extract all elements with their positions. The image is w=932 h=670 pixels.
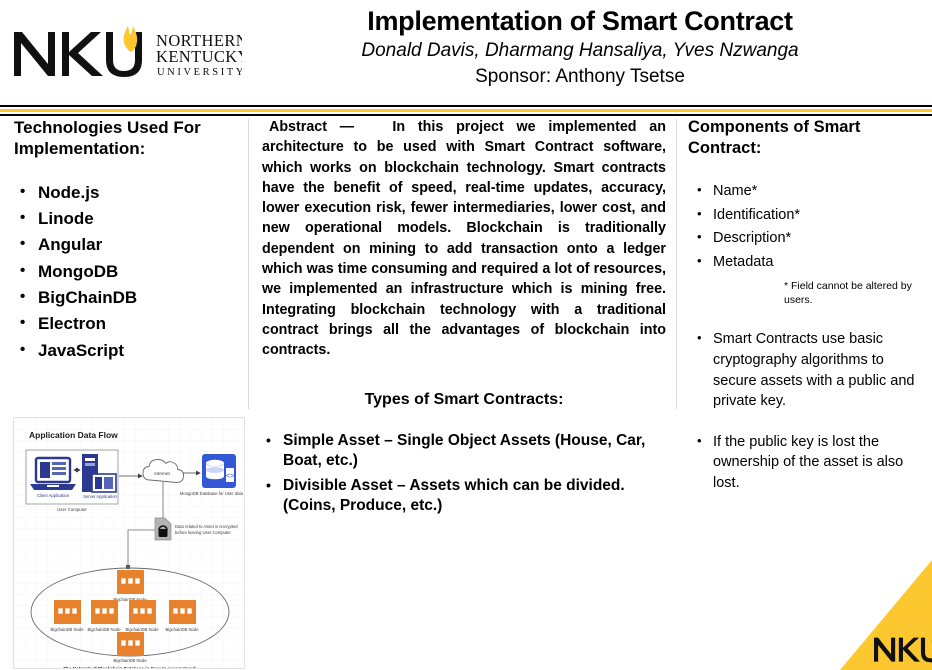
list-item: MongoDB [14,259,246,285]
nku-logo-svg: NORTHERN KENTUCKY UNIVERSITY [10,22,242,84]
bigchaindb-node [91,600,118,624]
abstract-label: Abstract — [262,119,354,135]
title-block: Implementation of Smart Contract Donald … [250,6,910,89]
list-item: If the public key is lost the ownership … [688,432,918,494]
label-node: BigchainDB Node [50,627,84,632]
svg-text:<>: <> [226,473,234,480]
list-item: Simple Asset – Single Object Assets (Hou… [262,431,666,472]
logo-line-university: UNIVERSITY [157,67,242,78]
network-caption: The Network of Blockchain Database in Pe… [63,666,197,669]
lock-icon [155,518,171,540]
label-node: BigchainDB Node [113,658,147,663]
poster-body: Technologies Used For Implementation: No… [0,117,932,670]
label-lock-note-2: before leaving User Computer [175,530,231,535]
list-item: Smart Contracts use basic cryptography a… [688,329,918,411]
bigchaindb-node [129,600,156,624]
diagram-title: Application Data Flow [29,430,118,440]
corner-logo-svg: ™ [820,560,932,670]
mongodb-icon: <> [202,454,236,488]
list-item: Electron [14,311,246,337]
types-list: Simple Asset – Single Object Assets (Hou… [262,431,666,517]
label-lock-note-1: Data related to Asset is encrypted [175,524,238,529]
column-divider-right [676,119,677,409]
list-item: Name* [688,180,918,203]
poster-page: NORTHERN KENTUCKY UNIVERSITY Implementat… [0,0,932,670]
corner-brand-mark: ™ [820,560,932,670]
client-application-icon [30,458,76,490]
logo-line-kentucky: KENTUCKY [156,47,242,66]
list-item: Linode [14,206,246,232]
list-item: JavaScript [14,338,246,364]
label-internet: Internet [154,471,170,476]
header-divider [0,105,932,116]
label-node: BigchainDB Node [125,627,159,632]
center-column: Abstract — In this project we implemente… [262,117,666,521]
list-item: Divisible Asset – Assets which can be di… [262,476,666,517]
abstract-paragraph: Abstract — In this project we implemente… [262,117,666,361]
components-list: Name* Identification* Description* Metad… [688,180,918,274]
diagram-svg: Application Data Flow Client Application [14,418,245,669]
bigchaindb-node [117,570,144,594]
list-item: Metadata [688,251,918,274]
column-divider-left [248,119,249,409]
components-footnote: * Field cannot be altered by users. [784,280,918,307]
list-item: Angular [14,232,246,258]
author-list: Donald Davis, Dharmang Hansaliya, Yves N… [250,40,910,63]
notes-list: Smart Contracts use basic cryptography a… [688,329,918,493]
label-server-application: Server Application [83,494,117,499]
label-mongodb: MongoDB Database for User data storage [180,491,245,496]
list-item: Description* [688,227,918,250]
application-data-flow-diagram: Application Data Flow Client Application [13,417,245,669]
bigchaindb-node [117,632,144,656]
label-node: BigchainDB Node [87,627,121,632]
divider-rule-black-bottom [0,114,932,116]
components-heading: Components of Smart Contract: [688,117,918,158]
page-title: Implementation of Smart Contract [250,6,910,37]
list-item: BigChainDB [14,285,246,311]
list-item: Node.js [14,180,246,206]
label-user-computer: User Computer [57,507,87,512]
bigchaindb-node [54,600,81,624]
technologies-list: Node.js Linode Angular MongoDB BigChainD… [14,180,246,364]
sponsor-line: Sponsor: Anthony Tsetse [250,66,910,89]
types-heading: Types of Smart Contracts: [262,391,666,409]
right-column: Components of Smart Contract: Name* Iden… [688,117,918,514]
technologies-heading: Technologies Used For Implementation: [14,117,246,160]
list-item: Identification* [688,204,918,227]
label-node: BigchainDB Node [165,627,199,632]
abstract-body: In this project we implemented an archit… [262,119,666,358]
left-column: Technologies Used For Implementation: No… [14,117,246,364]
bigchaindb-node [169,600,196,624]
label-client-application: Client Application [37,493,70,498]
poster-header: NORTHERN KENTUCKY UNIVERSITY Implementat… [0,0,932,104]
nku-logo: NORTHERN KENTUCKY UNIVERSITY [10,22,242,84]
